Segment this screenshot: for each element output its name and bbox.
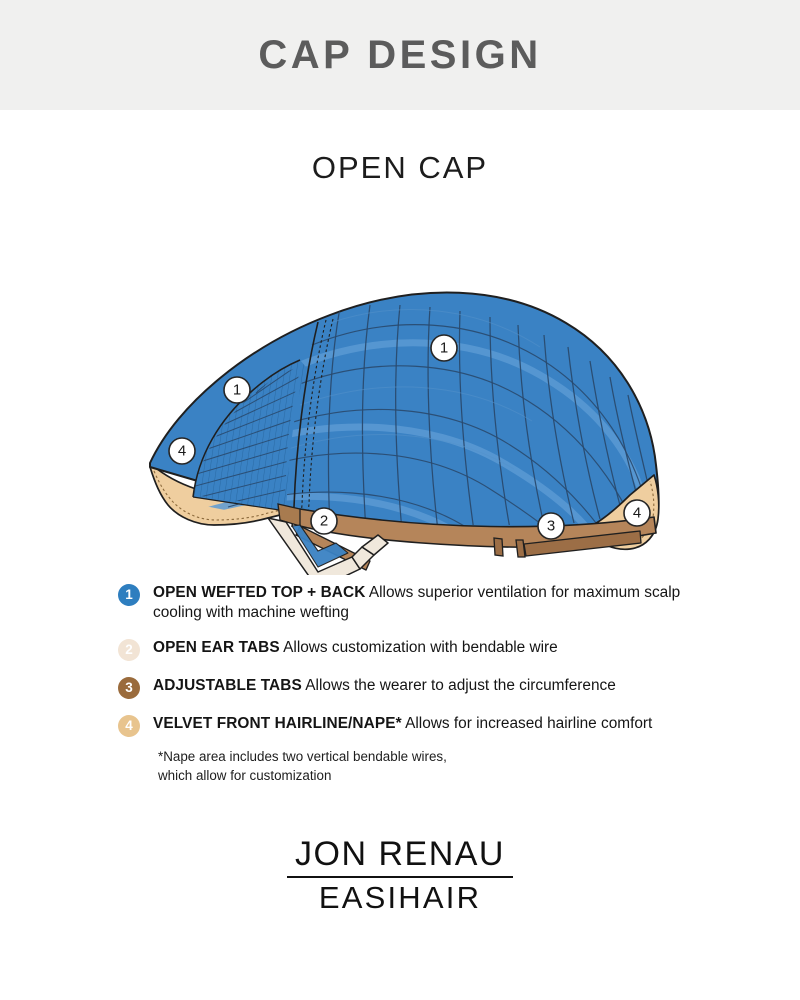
callout-4-right: 4 <box>624 500 650 526</box>
svg-text:4: 4 <box>178 443 186 460</box>
legend-title-4: VELVET FRONT HAIRLINE/NAPE* <box>153 715 402 732</box>
callout-3: 3 <box>538 513 564 539</box>
logo-easihair: EASIHAIR <box>0 882 800 915</box>
footnote-line-1: *Nape area includes two vertical bendabl… <box>158 747 800 766</box>
legend-text-2: OPEN EAR TABS Allows customization with … <box>153 638 558 658</box>
page-header: CAP DESIGN <box>0 0 800 110</box>
legend-item-1: 1 OPEN WEFTED TOP + BACK Allows superior… <box>118 583 800 623</box>
callout-1-back: 1 <box>431 335 457 361</box>
open-cap-svg: 1 1 4 2 3 4 <box>0 195 800 575</box>
legend-badge-1: 1 <box>118 584 140 606</box>
feature-legend: 1 OPEN WEFTED TOP + BACK Allows superior… <box>0 583 800 737</box>
callout-2: 2 <box>311 508 337 534</box>
legend-desc-3: Allows the wearer to adjust the circumfe… <box>302 677 616 694</box>
legend-text-1: OPEN WEFTED TOP + BACK Allows superior v… <box>153 583 713 623</box>
svg-text:1: 1 <box>440 340 448 357</box>
legend-item-4: 4 VELVET FRONT HAIRLINE/NAPE* Allows for… <box>118 714 800 737</box>
cap-type-subtitle: OPEN CAP <box>0 152 800 183</box>
legend-desc-2: Allows customization with bendable wire <box>280 639 558 656</box>
legend-badge-3: 3 <box>118 677 140 699</box>
page-title: CAP DESIGN <box>258 35 541 75</box>
legend-text-3: ADJUSTABLE TABS Allows the wearer to adj… <box>153 676 616 696</box>
legend-text-4: VELVET FRONT HAIRLINE/NAPE* Allows for i… <box>153 714 652 734</box>
legend-badge-4: 4 <box>118 715 140 737</box>
callout-1-front: 1 <box>224 377 250 403</box>
svg-text:4: 4 <box>633 505 641 522</box>
legend-desc-4: Allows for increased hairline comfort <box>402 715 653 732</box>
subtitle-container: OPEN CAP <box>0 152 800 183</box>
legend-title-1: OPEN WEFTED TOP + BACK <box>153 584 365 601</box>
legend-badge-2: 2 <box>118 639 140 661</box>
svg-text:2: 2 <box>320 513 328 530</box>
legend-item-3: 3 ADJUSTABLE TABS Allows the wearer to a… <box>118 676 800 699</box>
legend-item-2: 2 OPEN EAR TABS Allows customization wit… <box>118 638 800 661</box>
svg-text:3: 3 <box>547 518 555 535</box>
logo-jon-renau: JON RENAU <box>0 837 800 873</box>
callout-4-left: 4 <box>169 438 195 464</box>
logo-divider <box>287 876 513 878</box>
cap-illustration: 1 1 4 2 3 4 <box>0 195 800 575</box>
legend-title-2: OPEN EAR TABS <box>153 639 280 656</box>
footnote-line-2: which allow for customization <box>158 766 800 785</box>
legend-footnote: *Nape area includes two vertical bendabl… <box>0 747 800 785</box>
svg-text:1: 1 <box>233 382 241 399</box>
brand-logo: JON RENAU EASIHAIR <box>0 837 800 914</box>
legend-title-3: ADJUSTABLE TABS <box>153 677 302 694</box>
